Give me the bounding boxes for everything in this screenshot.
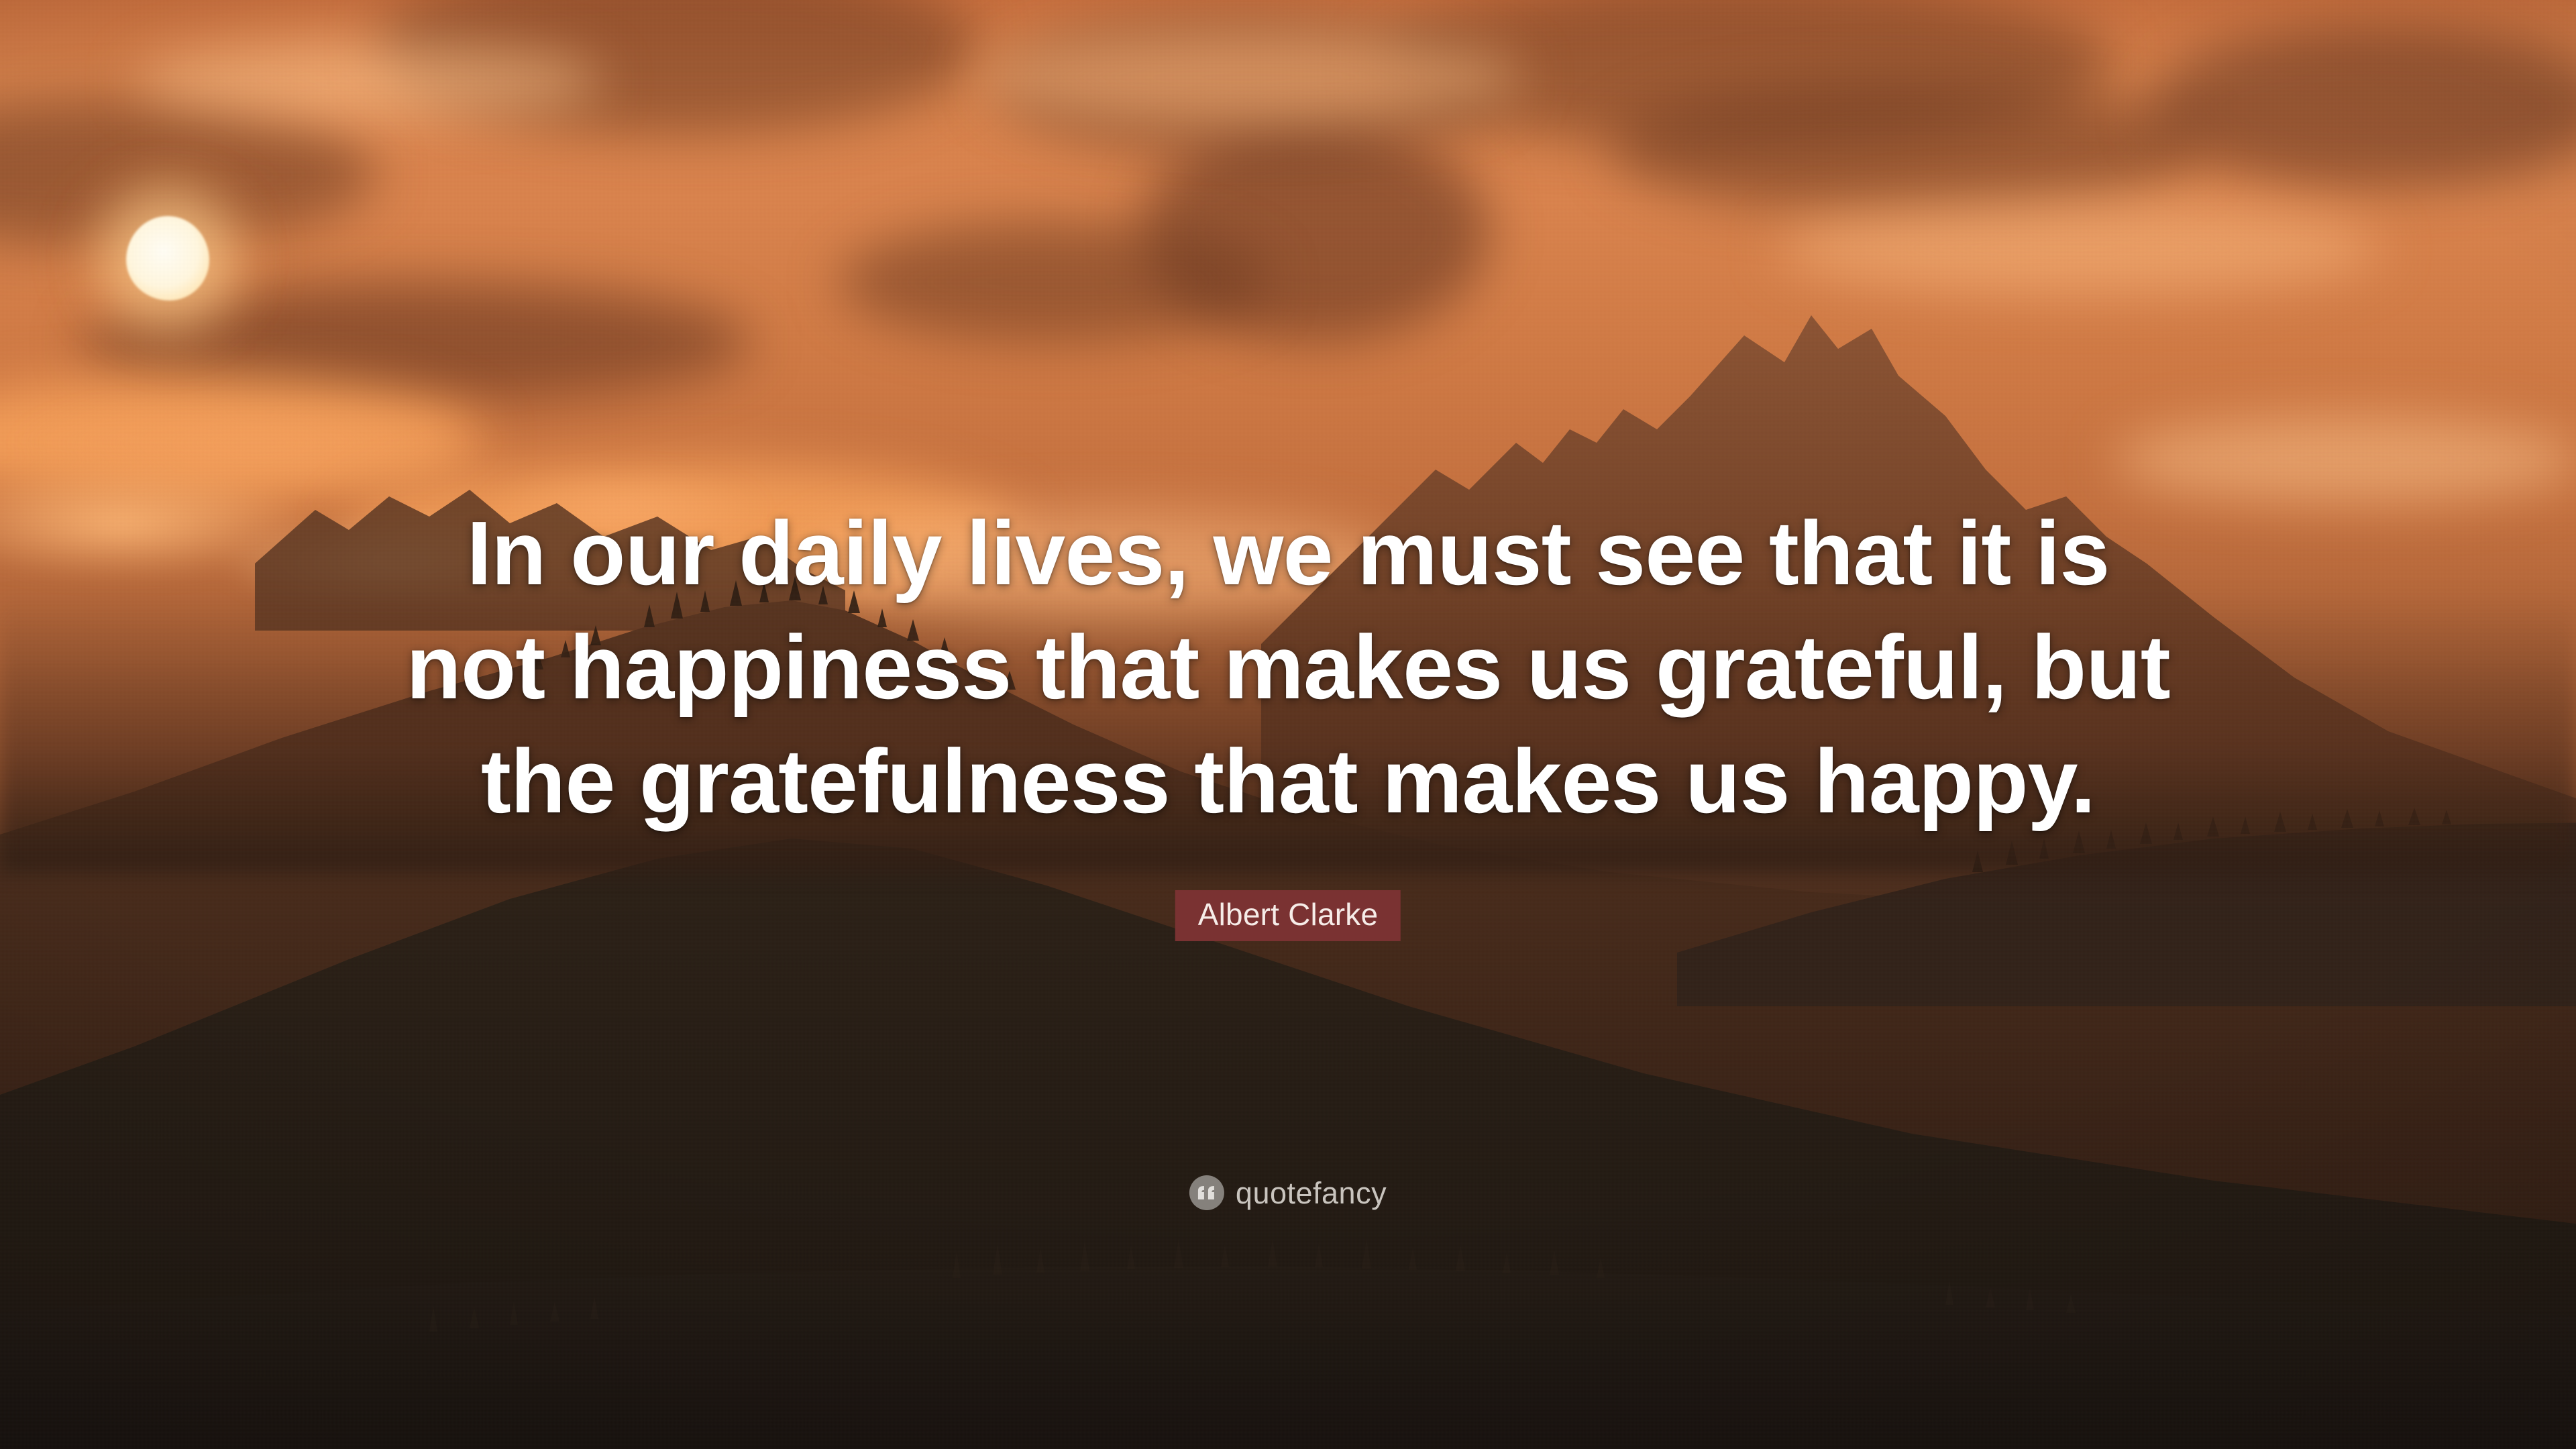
- author-badge[interactable]: Albert Clarke: [1175, 890, 1401, 941]
- quotefancy-brand-name: quotefancy: [1236, 1178, 1387, 1208]
- quote-poster: In our daily lives, we must see that it …: [0, 0, 2576, 1449]
- double-quote-icon: [1189, 1175, 1224, 1210]
- quote-text: In our daily lives, we must see that it …: [402, 496, 2173, 839]
- overlay-content: In our daily lives, we must see that it …: [0, 0, 2576, 1449]
- quotefancy-watermark[interactable]: quotefancy: [1189, 1175, 1387, 1210]
